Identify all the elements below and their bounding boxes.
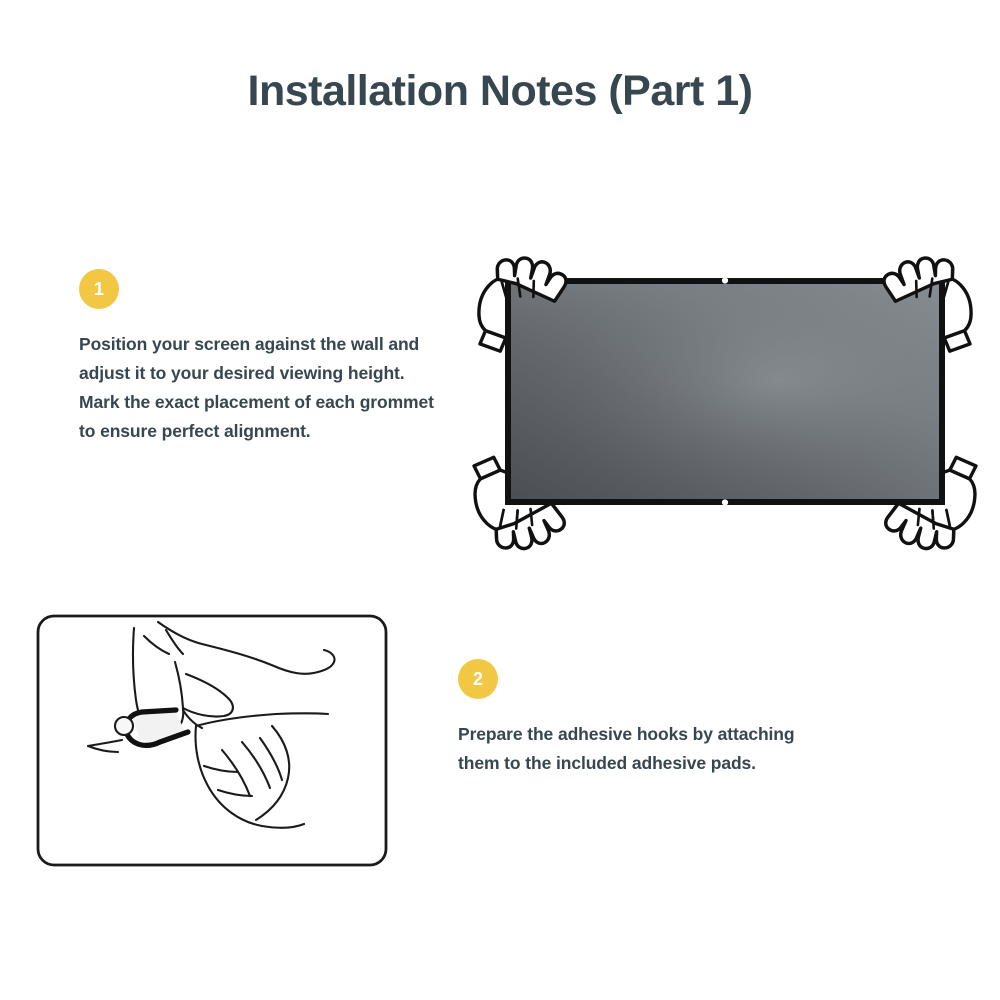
page-title: Installation Notes (Part 1) — [0, 68, 1000, 115]
grommet-bottom — [722, 499, 728, 505]
step-number-badge-1: 1 — [79, 269, 119, 309]
step-1-block: 1 Position your screen against the wall … — [79, 269, 459, 446]
step-number-badge-2: 2 — [458, 659, 498, 699]
projector-screen-illustration — [465, 245, 985, 565]
step-2-description: Prepare the adhesive hooks by attaching … — [458, 720, 808, 778]
illustration-frame — [38, 616, 386, 865]
step-1-description: Position your screen against the wall an… — [79, 330, 444, 446]
installation-notes-page: Installation Notes (Part 1) 1 Position y… — [0, 0, 1000, 1000]
grommet-top — [722, 277, 728, 283]
adhesive-hook-illustration — [36, 614, 388, 867]
step-2-block: 2 Prepare the adhesive hooks by attachin… — [458, 659, 828, 778]
